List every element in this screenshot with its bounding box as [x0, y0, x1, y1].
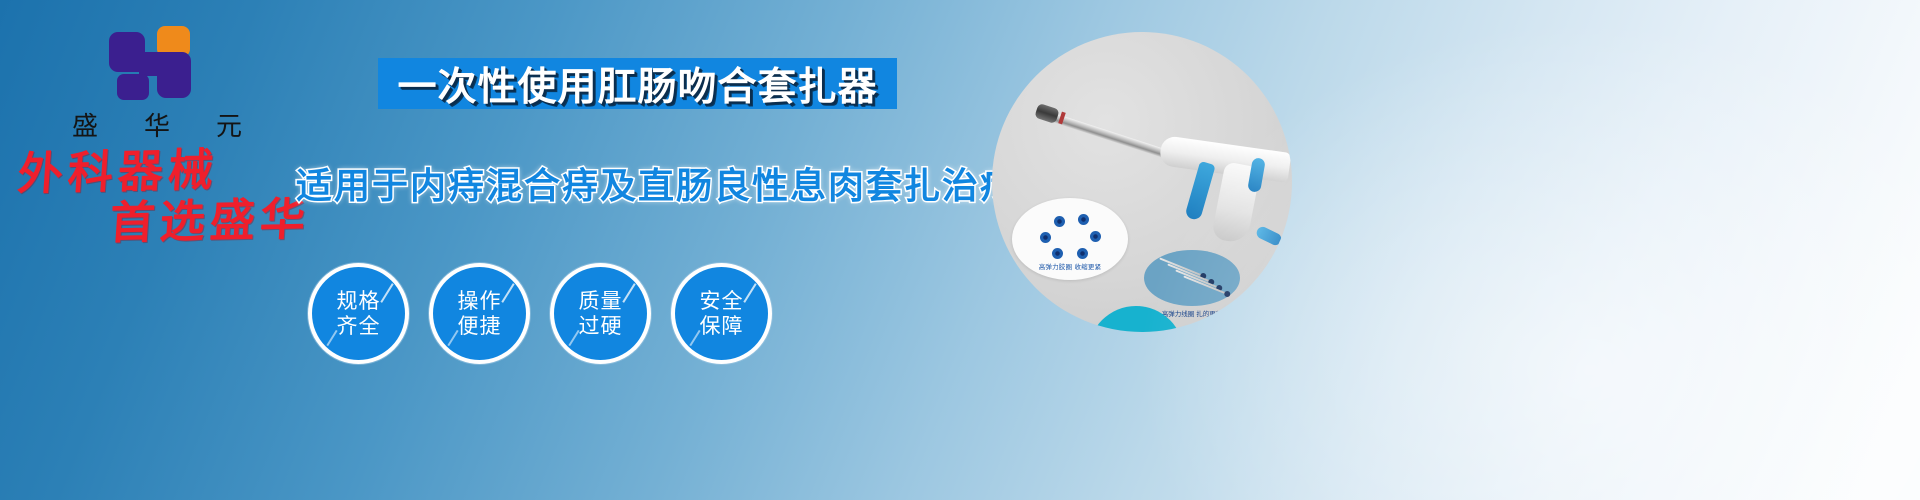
feature-badge-list: 规格 齐全 操作 便捷 质量 过硬 安全 保障: [312, 267, 768, 360]
instrument-trigger: [1184, 161, 1215, 221]
feature-badge-operation[interactable]: 操作 便捷: [433, 267, 526, 360]
title-bar: 一次性使用肛肠吻合套扎器: [378, 58, 897, 109]
badge-label-line2: 保障: [700, 314, 744, 338]
company-name: 盛 华 元: [62, 106, 242, 143]
feature-badge-specs[interactable]: 规格 齐全: [312, 267, 405, 360]
page-title: 一次性使用肛肠吻合套扎器: [397, 56, 877, 112]
feature-badge-safety[interactable]: 安全 保障: [675, 267, 768, 360]
instrument-blue-tail: [1255, 225, 1284, 247]
brand-logo[interactable]: 盛 华 元: [62, 26, 242, 143]
badge-label-line1: 操作: [458, 289, 502, 313]
badge-label-line2: 便捷: [458, 314, 502, 338]
logo-mark-icon: [109, 26, 195, 100]
callout-rubber-bands: 高弹力胶圈 收缩更紧: [1012, 198, 1128, 280]
badge-label-line1: 规格: [337, 289, 381, 313]
instrument-tip: [1034, 103, 1060, 124]
callout-rubber-bands-label: 高弹力胶圈 收缩更紧: [1012, 261, 1128, 271]
promo-banner: 盛 华 元 外科器械 首选盛华 一次性使用肛肠吻合套扎器 适用于内痔混合痔及直肠…: [0, 0, 1920, 500]
callout-wire-loops: 高弹力线圈 扎的更紧: [1144, 250, 1240, 306]
badge-label-line2: 齐全: [337, 314, 381, 338]
product-photo: 高弹力胶圈 收缩更紧 高弹力线圈 扎的更紧: [992, 32, 1292, 332]
badge-label-line1: 安全: [700, 289, 744, 313]
badge-label-line2: 过硬: [579, 314, 623, 338]
badge-label-line1: 质量: [579, 289, 623, 313]
subtitle: 适用于内痔混合痔及直肠良性息肉套扎治疗: [296, 157, 1018, 209]
feature-badge-quality[interactable]: 质量 过硬: [554, 267, 647, 360]
